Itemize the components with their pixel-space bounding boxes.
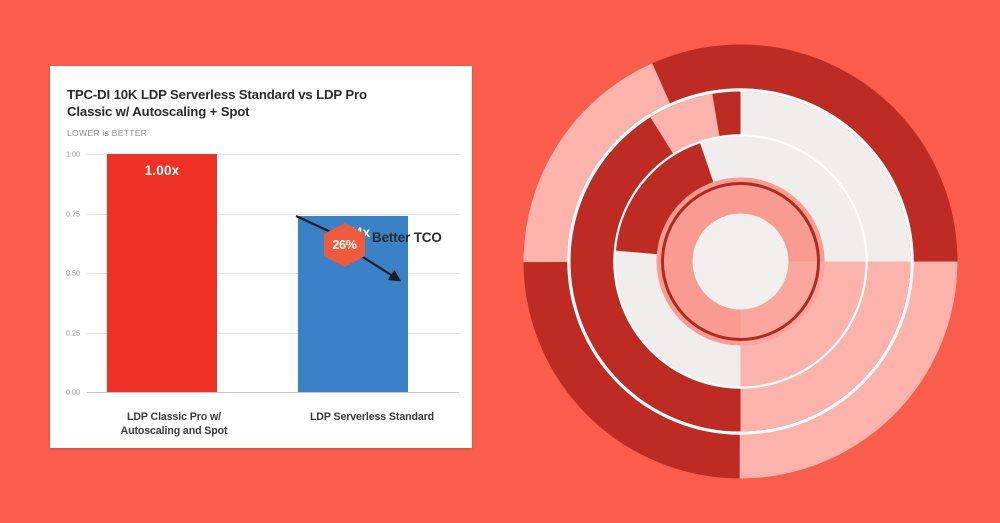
ytick-label-0.50: 0.50 xyxy=(66,269,80,278)
poster-canvas: TPC-DI 10K LDP Serverless Standard vs LD… xyxy=(0,0,1000,523)
plot-area: 1.00 0.75 0.50 0.25 0.00 1.00x 0.74x xyxy=(87,154,459,392)
bar-value-label: 1.00x xyxy=(107,163,217,178)
gridline-0.00: 0.00 xyxy=(87,392,459,393)
xaxis-label-ldp-serverless-standard: LDP Serverless Standard xyxy=(285,410,459,424)
ring-stack xyxy=(537,58,945,466)
xaxis-label-ldp-classic-pro: LDP Classic Pro w/ Autoscaling and Spot xyxy=(97,410,251,438)
chart-subtitle: LOWER is BETTER xyxy=(67,128,147,138)
ytick-label-0.75: 0.75 xyxy=(66,209,80,218)
bar-ldp-classic-pro[interactable]: 1.00x xyxy=(107,154,217,392)
ring-center-disc xyxy=(693,214,789,310)
badge-label: 26% xyxy=(332,238,356,252)
concentric-target-rings-graphic xyxy=(508,44,973,479)
ytick-label-0.00: 0.00 xyxy=(66,388,80,397)
better-tco-label: Better TCO xyxy=(372,230,442,245)
ytick-label-1.00: 1.00 xyxy=(66,150,80,159)
chart-title: TPC-DI 10K LDP Serverless Standard vs LD… xyxy=(67,87,407,120)
chart-card: TPC-DI 10K LDP Serverless Standard vs LD… xyxy=(50,66,472,448)
ytick-label-0.25: 0.25 xyxy=(66,328,80,337)
